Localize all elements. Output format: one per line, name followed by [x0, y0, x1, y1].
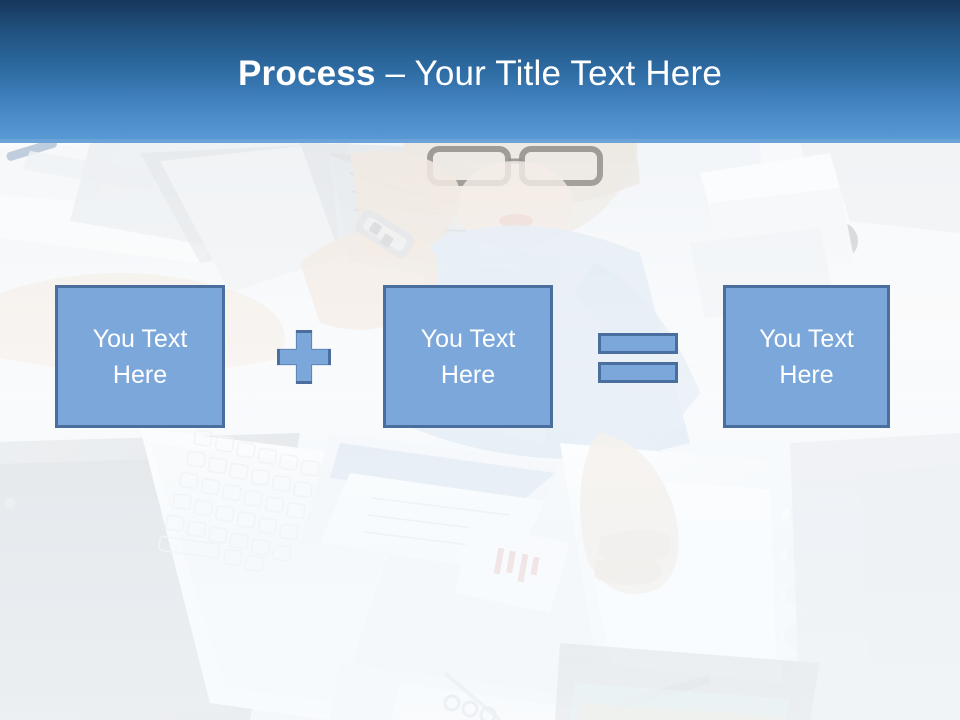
process-box-1-line2: Here — [113, 361, 167, 389]
page-title-strong: Process — [238, 54, 376, 93]
process-box-2[interactable]: You TextHere — [383, 285, 553, 428]
process-box-3-line1: You Text — [759, 325, 854, 353]
process-box-3[interactable]: You TextHere — [723, 285, 890, 428]
process-box-2-label: You TextHere — [407, 321, 530, 393]
process-box-3-line2: Here — [779, 361, 833, 389]
header-underline — [0, 139, 960, 143]
process-box-1-label: You TextHere — [79, 321, 202, 393]
equals-icon — [598, 333, 678, 383]
background-photo-art — [0, 143, 960, 720]
page-title-light: – Your Title Text Here — [376, 54, 722, 93]
process-box-3-label: You TextHere — [745, 321, 868, 393]
process-box-1-line1: You Text — [93, 325, 188, 353]
plus-icon — [277, 330, 331, 384]
page-title: Process – Your Title Text Here — [0, 52, 960, 96]
slide-canvas: Process – Your Title Text Here You TextH… — [0, 0, 960, 720]
equals-icon-bar-top — [598, 333, 678, 354]
plus-icon-fill — [280, 333, 328, 381]
process-box-2-line2: Here — [441, 361, 495, 389]
process-box-1[interactable]: You TextHere — [55, 285, 225, 428]
background-photo — [0, 143, 960, 720]
process-box-2-line1: You Text — [421, 325, 516, 353]
equals-icon-bar-bottom — [598, 362, 678, 383]
